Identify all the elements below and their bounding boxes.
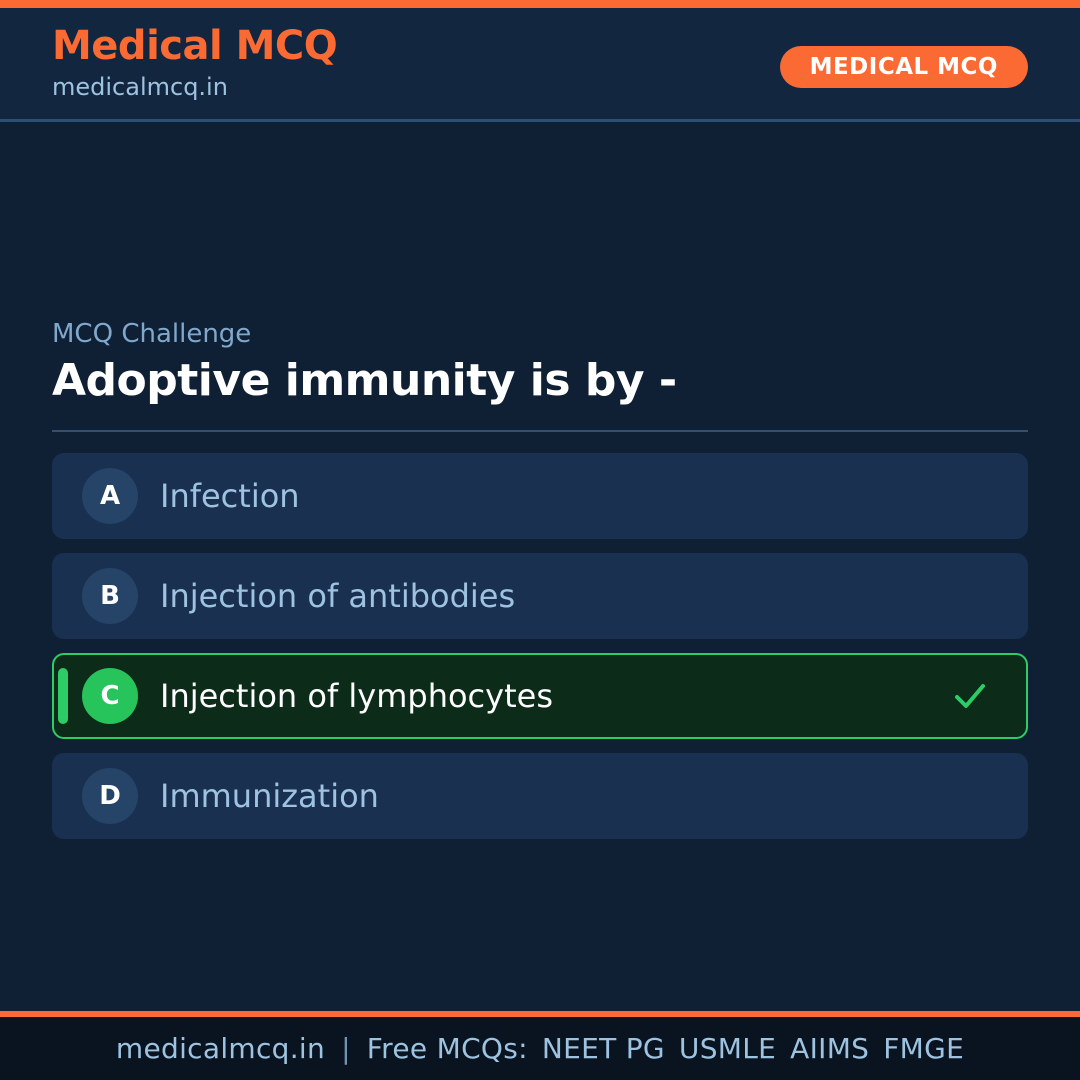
- option-letter-badge: D: [82, 768, 138, 824]
- page-header: Medical MCQ medicalmcq.in MEDICAL MCQ: [0, 8, 1080, 122]
- brand: Medical MCQ medicalmcq.in: [52, 22, 337, 102]
- footer-exam-fmge: FMGE: [883, 1032, 964, 1065]
- option-label: Immunization: [160, 776, 379, 816]
- page-footer: medicalmcq.in|Free MCQs:NEET PGUSMLEAIIM…: [0, 1017, 1080, 1080]
- correct-accent-bar: [58, 668, 68, 724]
- question-title: Adoptive immunity is by -: [52, 353, 1032, 409]
- main-content: MCQ Challenge Adoptive immunity is by - …: [0, 125, 1080, 1011]
- footer-exam-usmle: USMLE: [679, 1032, 776, 1065]
- option-label: Infection: [160, 476, 300, 516]
- option-letter-badge: B: [82, 568, 138, 624]
- footer-exam-neet-pg: NEET PG: [542, 1032, 665, 1065]
- header-badge: MEDICAL MCQ: [780, 46, 1028, 88]
- top-accent-bar: [0, 0, 1080, 8]
- footer-prefix: Free MCQs:: [367, 1032, 528, 1065]
- footer-text: medicalmcq.in|Free MCQs:NEET PGUSMLEAIIM…: [116, 1032, 964, 1065]
- option-letter-badge: A: [82, 468, 138, 524]
- question-divider: [52, 430, 1028, 432]
- footer-site: medicalmcq.in: [116, 1032, 325, 1065]
- footer-exam-aiims: AIIMS: [790, 1032, 869, 1065]
- options-list: A Infection B Injection of antibodies C …: [52, 453, 1028, 853]
- check-icon: [952, 678, 988, 714]
- option-row-c[interactable]: C Injection of lymphocytes: [52, 653, 1028, 739]
- question-kicker: MCQ Challenge: [52, 318, 251, 350]
- option-label: Injection of antibodies: [160, 576, 515, 616]
- option-row-d[interactable]: D Immunization: [52, 753, 1028, 839]
- footer-separator: |: [341, 1032, 351, 1065]
- brand-title: Medical MCQ: [52, 22, 337, 70]
- option-letter-badge: C: [82, 668, 138, 724]
- brand-domain: medicalmcq.in: [52, 72, 337, 102]
- option-label: Injection of lymphocytes: [160, 676, 553, 716]
- option-row-a[interactable]: A Infection: [52, 453, 1028, 539]
- option-row-b[interactable]: B Injection of antibodies: [52, 553, 1028, 639]
